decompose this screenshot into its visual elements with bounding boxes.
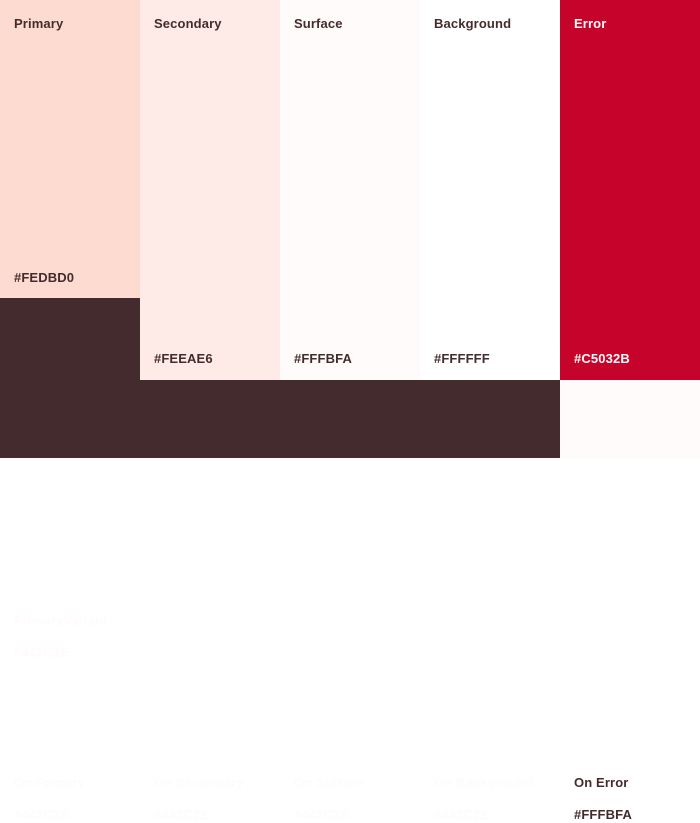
swatch-hex-on-surface: #442C2E [294, 807, 349, 823]
swatch-label-surface: Surface [294, 16, 343, 32]
palette-column-background: Background #FFFFFF On Background #442C2E [420, 0, 560, 458]
swatch-hex-on-secondary: #442C2E [154, 807, 209, 823]
palette-column-secondary: Secondary #FEEAE6 On Secondary #442C2E [140, 0, 280, 458]
swatch-on-primary[interactable]: On Primary #442C2E [0, 380, 140, 458]
swatch-label-on-surface: On Surface [294, 775, 365, 791]
swatch-label-error: Error [574, 16, 606, 32]
swatch-hex-surface: #FFFBFA [294, 351, 352, 367]
swatch-hex-error: #C5032B [574, 351, 630, 367]
swatch-secondary[interactable]: Secondary #FEEAE6 [140, 0, 280, 380]
swatch-label-on-secondary: On Secondary [154, 775, 244, 791]
palette-column-error: Error #C5032B On Error #FFFBFA [560, 0, 700, 458]
swatch-hex-primary: #FEDBD0 [14, 270, 74, 286]
swatch-label-on-error: On Error [574, 775, 629, 791]
swatch-label-secondary: Secondary [154, 16, 222, 32]
swatch-label-on-background: On Background [434, 775, 533, 791]
color-palette: Primary #FEDBD0 PrimaryVariant #442C2E O… [0, 0, 700, 458]
swatch-surface[interactable]: Surface #FFFBFA [280, 0, 420, 380]
palette-column-surface: Surface #FFFBFA On Surface #442C2E [280, 0, 420, 458]
swatch-on-error[interactable]: On Error #FFFBFA [560, 380, 700, 458]
swatch-label-primary-variant: PrimaryVariant [14, 613, 108, 629]
swatch-primary[interactable]: Primary #FEDBD0 [0, 0, 140, 298]
swatch-hex-primary-variant: #442C2E [14, 645, 69, 661]
swatch-hex-secondary: #FEEAE6 [154, 351, 213, 367]
swatch-hex-on-background: #442C2E [434, 807, 489, 823]
swatch-label-on-primary: On Primary [14, 775, 85, 791]
swatch-background[interactable]: Background #FFFFFF [420, 0, 560, 380]
swatch-label-primary: Primary [14, 16, 63, 32]
swatch-error[interactable]: Error #C5032B [560, 0, 700, 380]
swatch-label-background: Background [434, 16, 511, 32]
swatch-on-background[interactable]: On Background #442C2E [420, 380, 560, 458]
palette-column-primary: Primary #FEDBD0 PrimaryVariant #442C2E O… [0, 0, 140, 458]
swatch-on-secondary[interactable]: On Secondary #442C2E [140, 380, 280, 458]
swatch-hex-background: #FFFFFF [434, 351, 490, 367]
swatch-hex-on-primary: #442C2E [14, 807, 69, 823]
swatch-primary-variant[interactable]: PrimaryVariant #442C2E [0, 298, 140, 380]
swatch-hex-on-error: #FFFBFA [574, 807, 632, 823]
swatch-on-surface[interactable]: On Surface #442C2E [280, 380, 420, 458]
